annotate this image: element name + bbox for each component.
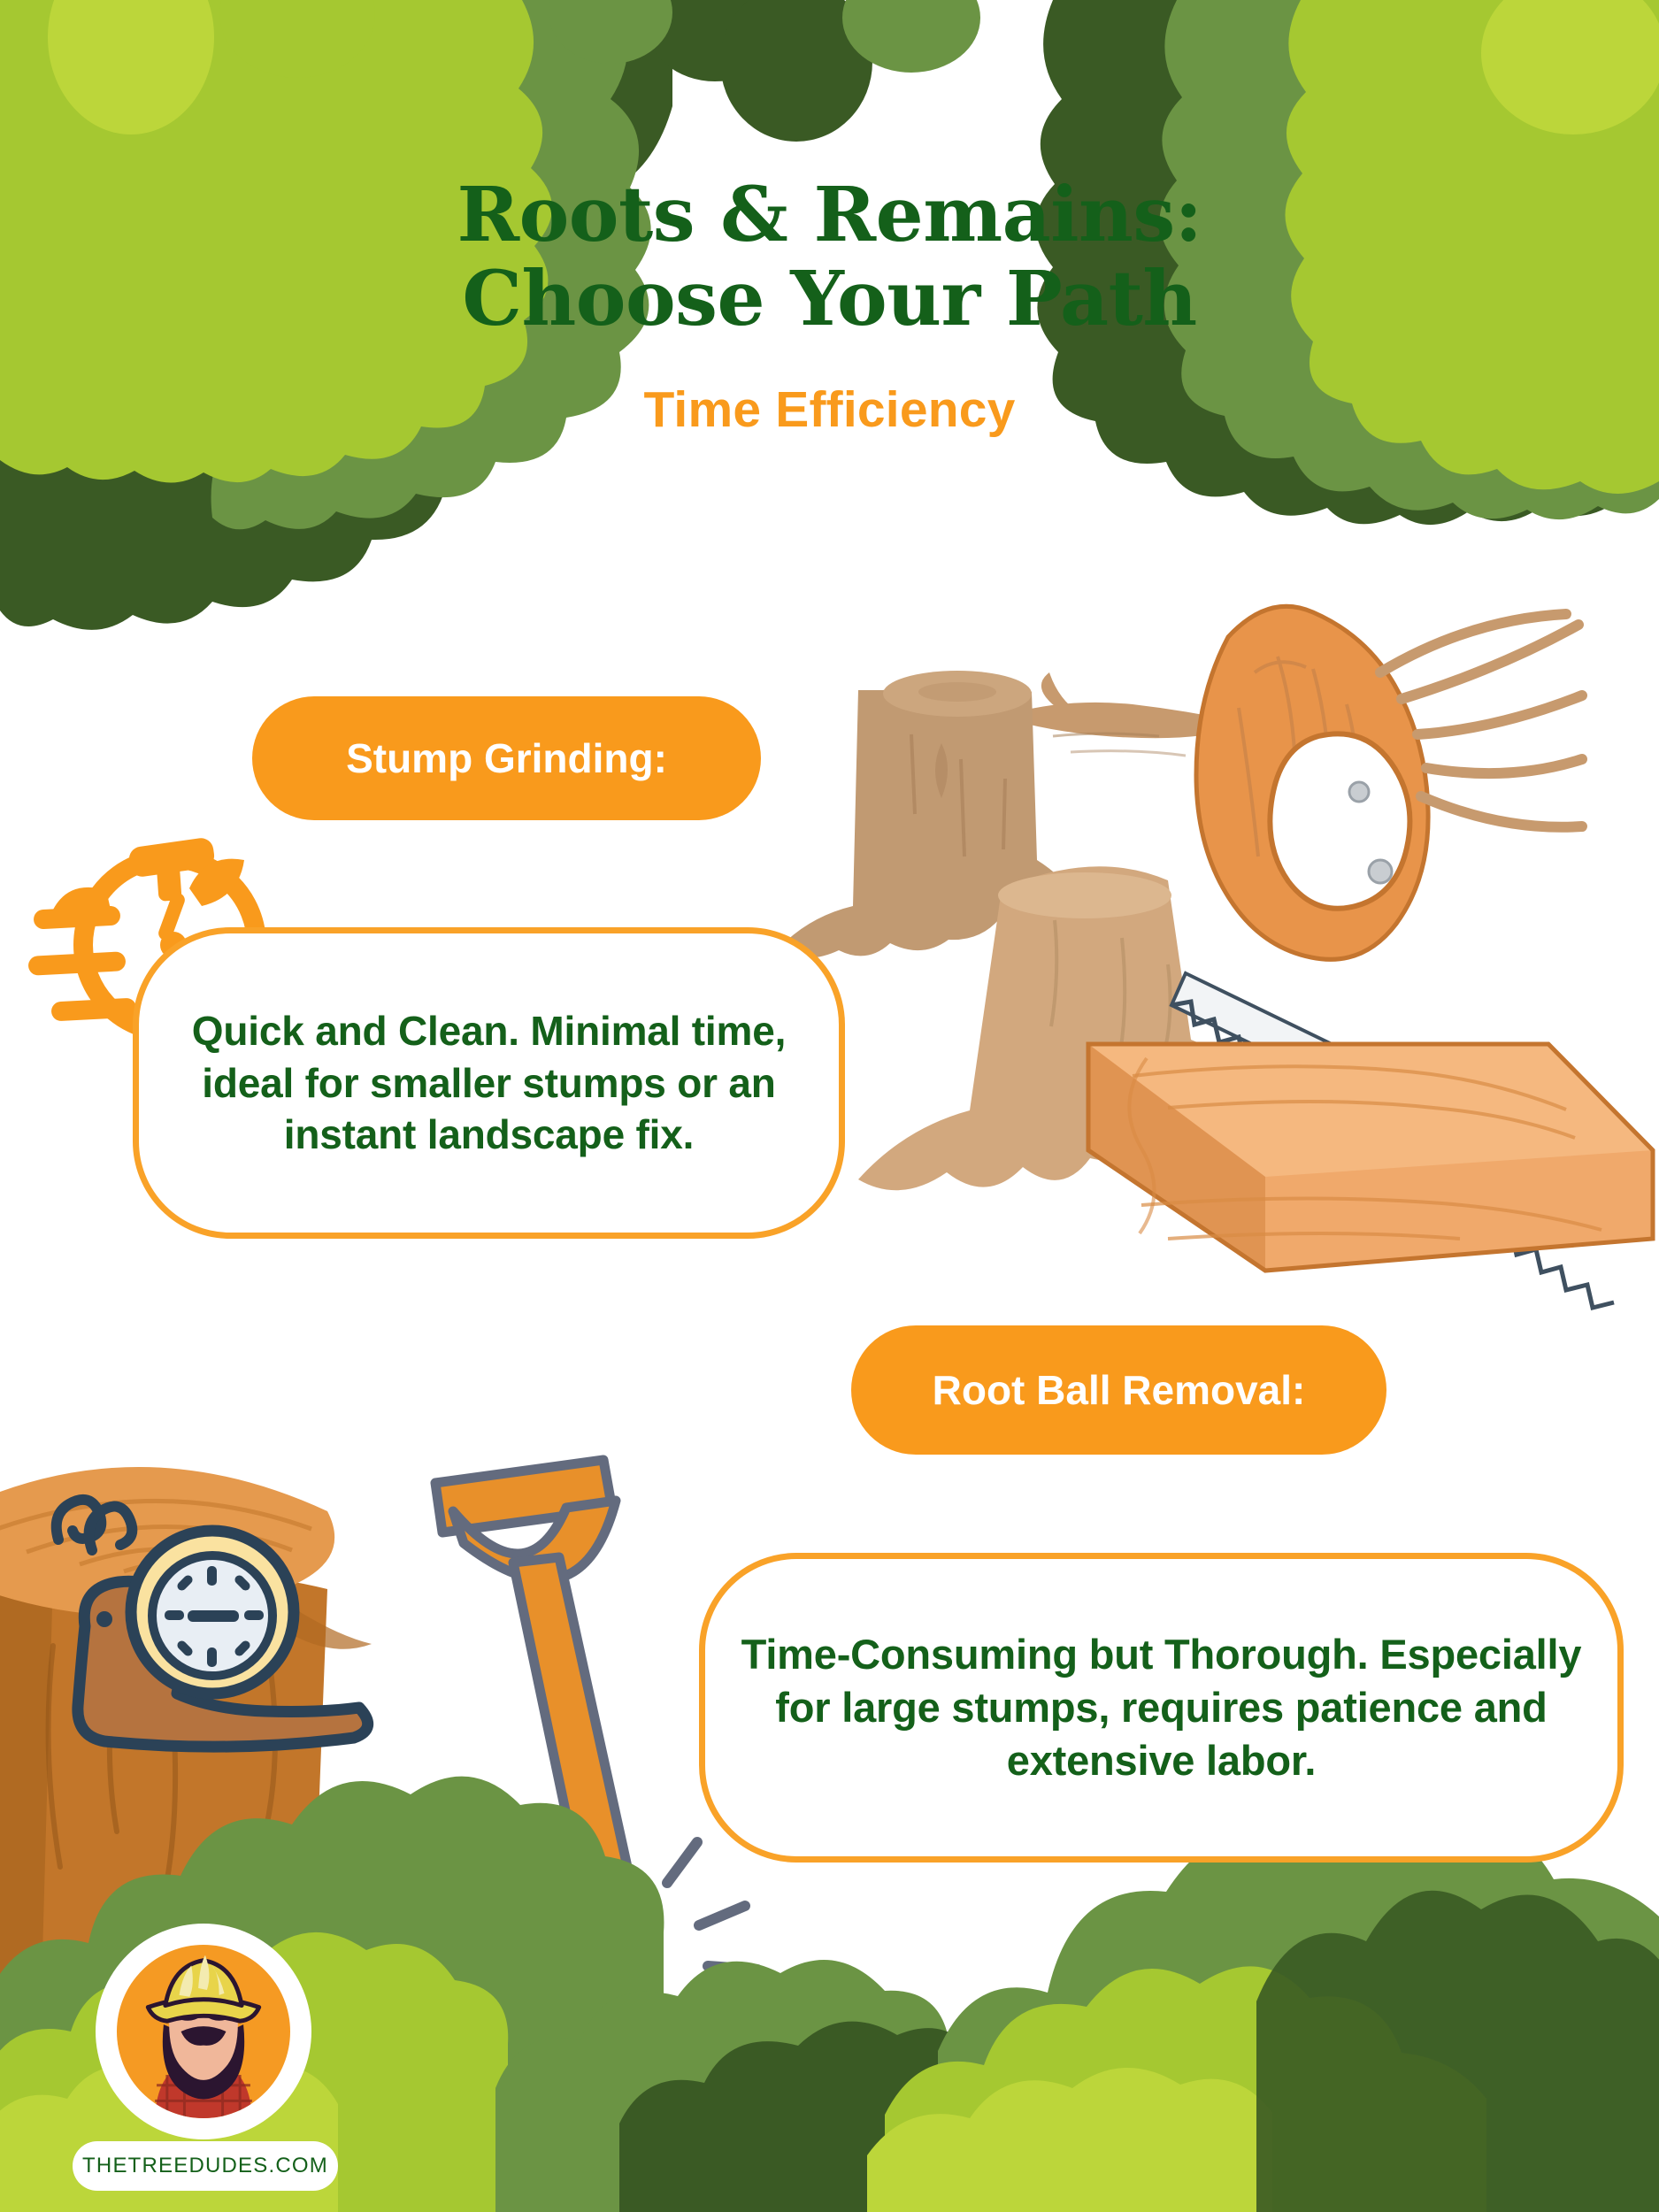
label-root-ball-removal: Root Ball Removal: bbox=[851, 1325, 1386, 1455]
page-title: Roots & Remains: Choose Your Path bbox=[0, 173, 1659, 342]
lumberjack-avatar bbox=[96, 1924, 311, 2139]
site-url-text: THETREEDUDES.COM bbox=[82, 2154, 328, 2178]
callout-root-ball-removal: Time-Consuming but Thorough. Especially … bbox=[699, 1553, 1624, 1863]
site-url-badge[interactable]: THETREEDUDES.COM bbox=[73, 2141, 338, 2191]
title-line-2: Choose Your Path bbox=[0, 257, 1659, 342]
infographic-poster: Roots & Remains: Choose Your Path Time E… bbox=[0, 0, 1659, 2212]
title-line-1: Roots & Remains: bbox=[0, 173, 1659, 257]
header-block: Roots & Remains: Choose Your Path Time E… bbox=[0, 173, 1659, 439]
bottom-right-bushes bbox=[867, 1812, 1659, 2212]
callout-stump-grinding: Quick and Clean. Minimal time, ideal for… bbox=[133, 927, 845, 1239]
callout-stump-grinding-text: Quick and Clean. Minimal time, ideal for… bbox=[139, 1005, 839, 1162]
label-stump-grinding: Stump Grinding: bbox=[252, 696, 761, 820]
page-subtitle: Time Efficiency bbox=[0, 380, 1659, 439]
callout-root-ball-removal-text: Time-Consuming but Thorough. Especially … bbox=[705, 1628, 1617, 1787]
lumberjack-avatar-disc bbox=[117, 1945, 290, 2118]
